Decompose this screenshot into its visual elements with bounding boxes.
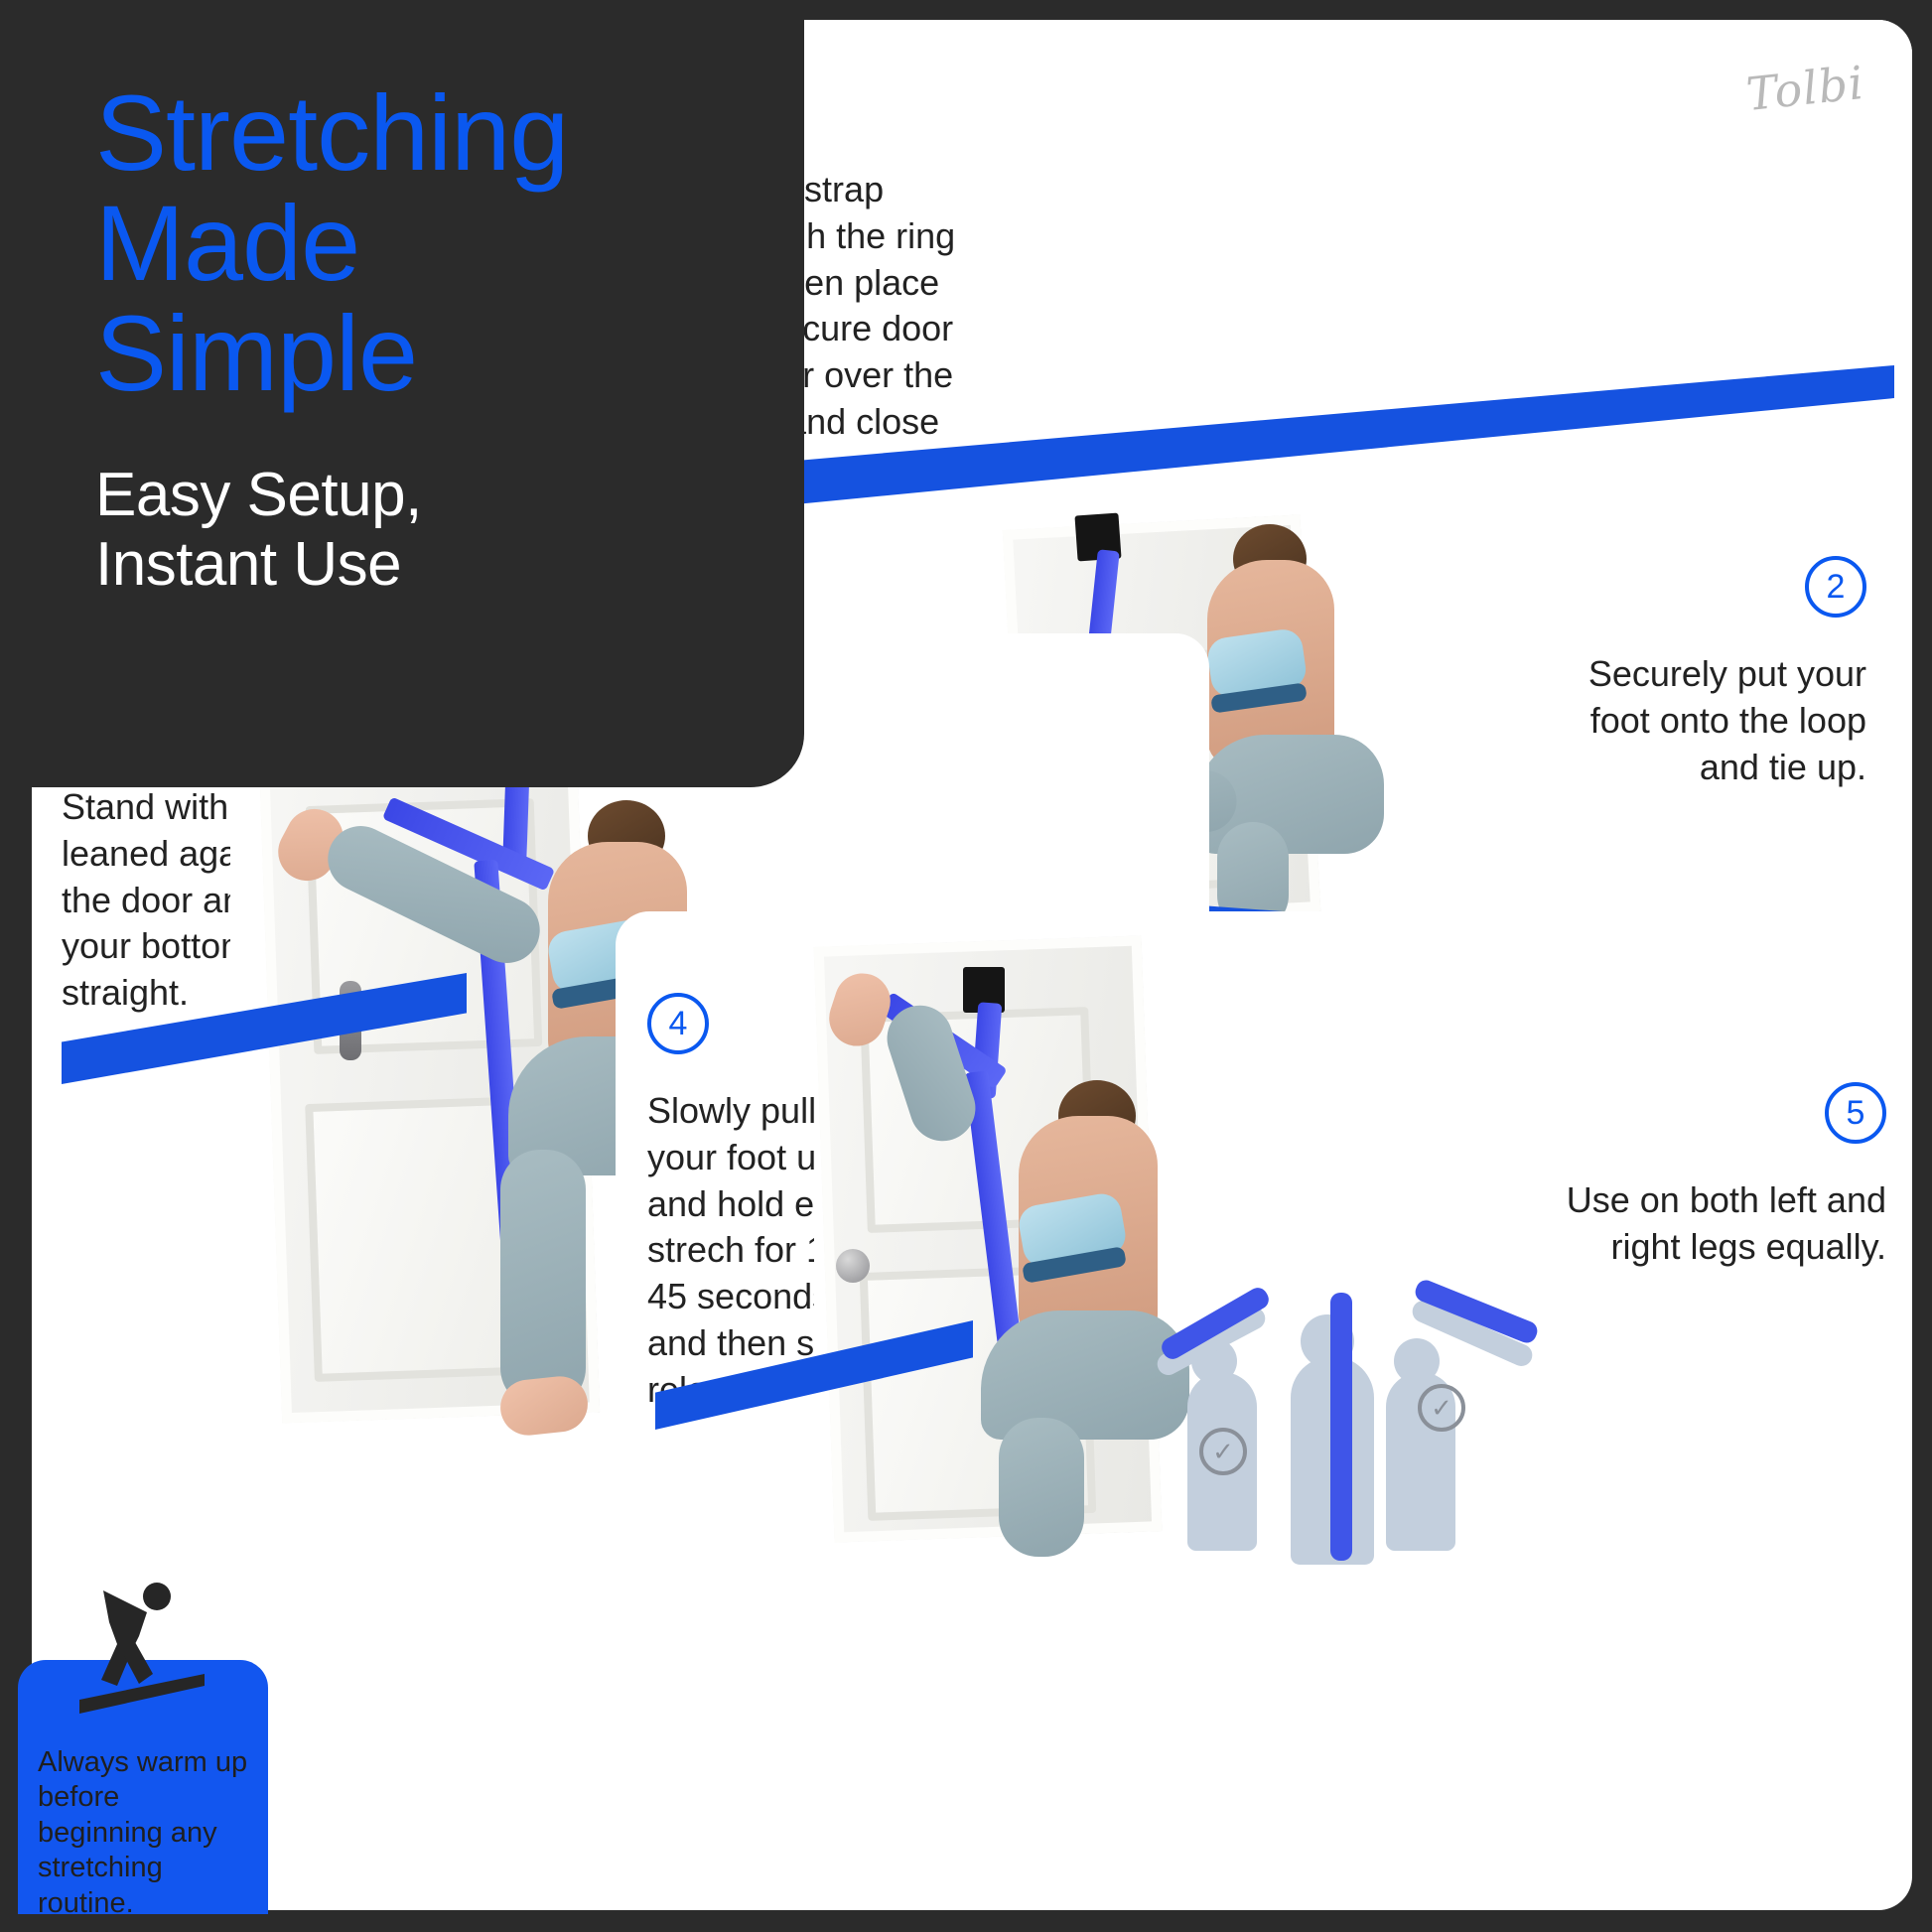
legging-standing-leg <box>500 1150 586 1408</box>
title-line-2: Made <box>95 188 804 298</box>
step-2-badge: 2 <box>1805 556 1866 618</box>
step-5-text: Use on both left and right legs equally. <box>1549 1177 1886 1271</box>
step-2-text: Securely put your foot onto the loop and… <box>1549 651 1866 790</box>
title-line-3: Simple <box>95 298 804 408</box>
step-5-body: 5 Use on both left and right legs equall… <box>1549 1082 1886 1271</box>
step-5-silhouettes: ✓ ✓ <box>1152 1253 1549 1581</box>
infographic-canvas: Tolbi 1 Place strap through the ring and… <box>0 0 1932 1932</box>
step-5-badge: 5 <box>1825 1082 1886 1144</box>
silhouette-right-head <box>1394 1338 1440 1384</box>
page-subtitle: Easy Setup, Instant Use <box>95 461 804 600</box>
step-4-badge: 4 <box>647 993 709 1054</box>
warning-box: Always warm up before beginning any stre… <box>18 1660 268 1914</box>
subtitle-line-1: Easy Setup, <box>95 461 804 530</box>
silhouette-center-strap <box>1330 1293 1352 1561</box>
warning-text: Always warm up before beginning any stre… <box>38 1745 250 1921</box>
legging-standing-leg <box>999 1418 1084 1557</box>
step-2-body: 2 Securely put your foot onto the loop a… <box>1549 556 1866 790</box>
subtitle-line-2: Instant Use <box>95 530 804 600</box>
stretching-person-icon <box>73 1583 232 1722</box>
check-icon-right: ✓ <box>1418 1384 1465 1432</box>
page-title: Stretching Made Simple <box>95 77 804 409</box>
hero-panel: Stretching Made Simple Easy Setup, Insta… <box>0 0 804 787</box>
title-line-1: Stretching <box>95 77 804 188</box>
door-knob <box>836 1249 870 1283</box>
check-icon-left: ✓ <box>1199 1428 1247 1475</box>
